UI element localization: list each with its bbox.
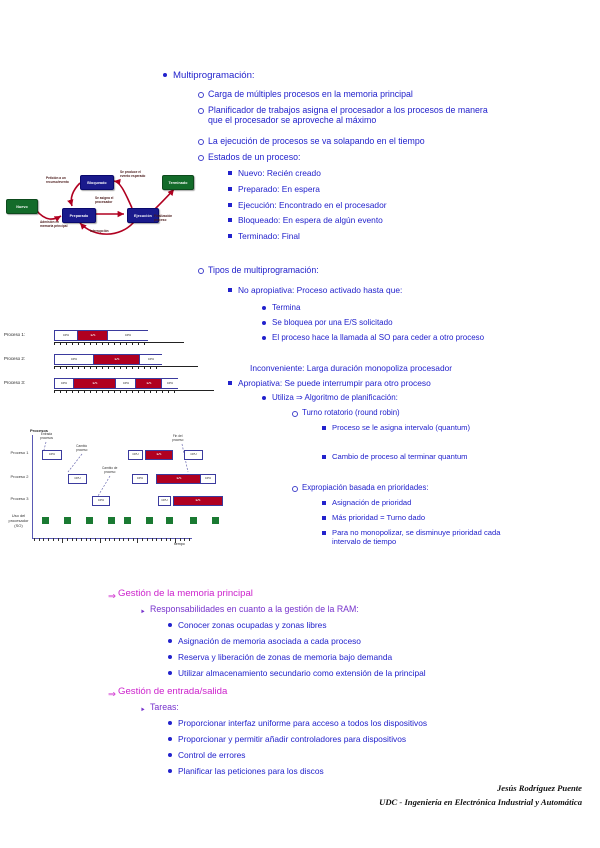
outline-label-no-monopolizar: Para no monopolizar, se disminuye priori…	[332, 528, 502, 546]
bullet-square-icon	[322, 501, 326, 505]
gantt-block-white: CPU	[158, 496, 171, 506]
outline-label-apropiativa: Apropiativa: Se puede interrumpir para o…	[238, 378, 431, 388]
outline-label-ejecucion-solapa: La ejecución de procesos se va solapando…	[208, 136, 425, 146]
bullet-marker	[168, 668, 178, 677]
timeline-tick	[132, 390, 133, 393]
timeline-tick	[54, 390, 55, 393]
gantt-tick	[48, 538, 49, 541]
outline-label-tipos-multiprog: Tipos de multiprogramación:	[208, 265, 319, 275]
timeline-label-proceso-2: Proceso 2:	[4, 356, 25, 361]
gantt-tick	[90, 538, 91, 541]
gantt-cpu-usage-block	[42, 517, 49, 524]
bullet-marker: ⇒	[108, 588, 118, 602]
bullet-marker	[292, 408, 302, 419]
bullet-disc-icon	[262, 321, 266, 325]
timeline-tick	[126, 342, 127, 345]
timeline-tick	[72, 366, 73, 369]
timeline-segment-io: E/S	[73, 379, 116, 388]
footer-author: Jesús Rodríguez Puente	[497, 782, 582, 795]
outline-label-inconveniente: Inconveniente: Larga duración monopoliza…	[250, 363, 452, 373]
gantt-tick	[95, 538, 96, 541]
timeline-tick	[120, 342, 121, 345]
bullet-marker	[322, 498, 332, 507]
gantt-tick	[147, 538, 148, 541]
timeline-tick	[78, 342, 79, 345]
outline-item-carga-multiples: Carga de múltiples procesos en la memori…	[198, 89, 528, 100]
outline-item-estados-proceso: Estados de un proceso:	[198, 152, 528, 163]
bullet-circle-icon	[198, 108, 204, 114]
timeline-track-proceso-1: CPUE/SCPU	[54, 330, 148, 341]
gantt-tick	[109, 538, 110, 541]
outline-label-no-apropiativa: No apropiativa: Proceso activado hasta q…	[238, 285, 402, 295]
gantt-tick	[184, 538, 185, 541]
bullet-circle-icon	[198, 268, 204, 274]
state-box-nuevo: Nuevo	[6, 199, 38, 214]
gantt-block-red: E/S	[156, 474, 202, 484]
bullet-disc-icon	[168, 737, 172, 741]
outline-item-estado-bloqueado: Bloqueado: En espera de algún evento	[228, 215, 548, 225]
outline-label-gestion-memoria: Gestión de la memoria principal	[118, 588, 253, 599]
bullet-disc-icon	[168, 671, 172, 675]
timeline-tick	[54, 366, 55, 369]
bullet-marker	[168, 636, 178, 645]
timeline-tick	[144, 390, 145, 393]
outline-label-estado-nuevo: Nuevo: Recién creado	[238, 168, 321, 178]
outline-label-mas-prioridad: Más prioridad = Turno dado	[332, 513, 425, 522]
timeline-segment-cpu: CPU	[107, 331, 148, 340]
bullet-tick-icon: ‣	[140, 705, 146, 716]
timeline-tick	[60, 390, 61, 393]
outline-label-almacenamiento-sec: Utilizar almacenamiento secundario como …	[178, 668, 426, 678]
timeline-segment-cpu: CPU	[139, 355, 162, 364]
gantt-tick	[137, 538, 138, 543]
gantt-cpu-usage-block	[190, 517, 197, 524]
gantt-tick	[166, 538, 167, 541]
gantt-cpu-usage-block	[64, 517, 71, 524]
gantt-tick	[156, 538, 157, 541]
timeline-tick	[126, 390, 127, 393]
outline-item-gestion-memoria: ⇒Gestión de la memoria principal	[108, 588, 508, 602]
timeline-track-proceso-3: CPUE/SCPUE/SCPU	[54, 378, 178, 389]
bullet-square-icon	[228, 234, 232, 238]
bullet-marker: ‣	[140, 604, 150, 618]
bullet-square-icon	[228, 187, 232, 191]
outline-item-ejecucion-solapa: La ejecución de procesos se va solapando…	[198, 136, 528, 147]
gantt-cpu-usage-block	[86, 517, 93, 524]
gantt-block-white: CPU	[128, 450, 143, 460]
outline-label-se-bloquea-es: Se bloquea por una E/S solicitado	[272, 318, 393, 327]
bullet-circle-icon	[198, 155, 204, 161]
outline-label-control-errores: Control de errores	[178, 750, 246, 760]
bullet-disc-icon	[168, 655, 172, 659]
outline-item-estado-nuevo: Nuevo: Recién creado	[228, 168, 548, 178]
bullet-marker	[322, 513, 332, 522]
outline-label-estado-bloqueado: Bloqueado: En espera de algún evento	[238, 215, 383, 225]
outline-item-almacenamiento-sec: Utilizar almacenamiento secundario como …	[168, 668, 568, 678]
gantt-block-white: CPU	[184, 450, 203, 460]
bullet-square-icon	[228, 288, 232, 292]
timeline-tick	[72, 342, 73, 345]
state-edge-label-peticion-es: Petición a un recurso/evento	[46, 176, 69, 184]
timeline-tick	[156, 390, 157, 393]
outline-item-llamada-so: El proceso hace la llamada al SO para ce…	[262, 333, 512, 342]
bullet-arrow-icon: ⇒	[108, 689, 116, 700]
outline-item-tipos-multiprog: Tipos de multiprogramación:	[198, 265, 528, 276]
outline-label-llamada-so: El proceso hace la llamada al SO para ce…	[272, 333, 484, 342]
bullet-circle-icon	[198, 139, 204, 145]
timeline-tick	[66, 366, 67, 369]
bullet-disc-icon	[262, 396, 266, 400]
timeline-tick	[96, 390, 97, 393]
outline-item-multiprogramacion: Multiprogramación:	[163, 70, 583, 81]
gantt-tick	[53, 538, 54, 541]
figure-process-state-diagram: NuevoPreparadoBloqueadoEjecuciónTerminad…	[2, 166, 192, 266]
outline-item-cambio-proceso: Cambio de proceso al terminar quantum	[322, 452, 502, 461]
gantt-tick	[105, 538, 106, 541]
outline-label-estado-preparado: Preparado: En espera	[238, 184, 320, 194]
outline-item-conocer-zonas: Conocer zonas ocupadas y zonas libres	[168, 620, 548, 630]
bullet-marker	[168, 620, 178, 629]
gantt-block-white: CPU	[68, 474, 87, 484]
bullet-marker	[198, 105, 208, 116]
timeline-segment-cpu: CPU	[55, 355, 93, 364]
outline-label-estados-proceso: Estados de un proceso:	[208, 152, 300, 162]
outline-item-estado-preparado: Preparado: En espera	[228, 184, 548, 194]
timeline-tick	[126, 366, 127, 369]
gantt-tick	[62, 538, 63, 543]
outline-label-planificar-discos: Planificar las peticiones para los disco…	[178, 766, 324, 776]
gantt-cpu-usage-block	[166, 517, 173, 524]
bullet-arrow-icon: ⇒	[108, 591, 116, 602]
outline-item-planificador: Planificador de trabajos asigna el proce…	[198, 105, 498, 125]
timeline-tick	[132, 366, 133, 369]
gantt-note-nota-nuevo-proceso: Entrada procesos	[40, 432, 53, 440]
bullet-square-icon	[322, 531, 326, 535]
timeline-tick	[114, 390, 115, 393]
bullet-marker	[168, 652, 178, 661]
timeline-tick	[138, 342, 139, 345]
bullet-marker	[198, 152, 208, 163]
outline-label-asignacion-memoria: Asignación de memoria asociada a cada pr…	[178, 636, 361, 646]
outline-label-estado-ejecucion: Ejecución: Encontrado en el procesador	[238, 200, 387, 210]
bullet-disc-icon	[163, 73, 167, 77]
figure-scheduling-gantt: ProcesosProceso 1CPUCPUE/SCPUProceso 2CP…	[6, 428, 202, 568]
gantt-tick	[152, 538, 153, 541]
gantt-tick	[86, 538, 87, 541]
timeline-tick	[144, 342, 145, 345]
outline-item-asignacion-prior: Asignación de prioridad	[322, 498, 562, 507]
timeline-tick	[90, 342, 91, 345]
gantt-tick	[67, 538, 68, 541]
timeline-tick	[114, 366, 115, 369]
outline-item-tareas: ‣Tareas:	[140, 702, 520, 716]
gantt-tick	[81, 538, 82, 541]
state-edge-label-fin-proceso: Finalización proceso	[154, 214, 172, 222]
outline-label-controladores: Proporcionar y permitir añadir controlad…	[178, 734, 406, 744]
gantt-tick	[161, 538, 162, 541]
timeline-tick	[150, 390, 151, 393]
timeline-segment-io: E/S	[77, 331, 108, 340]
bullet-marker	[198, 89, 208, 100]
bullet-marker	[228, 215, 238, 224]
bullet-circle-icon	[292, 486, 298, 492]
gantt-y-axis	[32, 435, 33, 538]
bullet-square-icon	[228, 381, 232, 385]
outline-label-expropiacion: Expropiación basada en prioridades:	[302, 483, 429, 492]
bullet-marker	[322, 452, 332, 461]
gantt-tick	[39, 538, 40, 541]
timeline-tick	[150, 366, 151, 369]
timeline-tick	[102, 366, 103, 369]
gantt-tick	[189, 538, 190, 541]
gantt-cpu-usage-block	[108, 517, 115, 524]
timeline-tick	[108, 342, 109, 345]
timeline-tick	[84, 390, 85, 393]
outline-item-controladores: Proporcionar y permitir añadir controlad…	[168, 734, 568, 744]
timeline-tick	[78, 366, 79, 369]
gantt-tick	[76, 538, 77, 541]
timeline-tick	[96, 342, 97, 345]
timeline-track-proceso-2: CPUE/SCPU	[54, 354, 162, 365]
bullet-marker	[228, 231, 238, 240]
outline-label-cambio-proceso: Cambio de proceso al terminar quantum	[332, 452, 468, 461]
gantt-note-nota-fin: Fin del proceso	[172, 434, 183, 442]
footer-affiliation: UDC - Ingeniería en Electrónica Industri…	[379, 796, 582, 809]
slide-canvas: NuevoPreparadoBloqueadoEjecuciónTerminad…	[0, 0, 600, 848]
gantt-cpu-usage-block	[212, 517, 219, 524]
gantt-x-axis	[32, 538, 192, 539]
timeline-tick	[138, 390, 139, 393]
timeline-segment-cpu: CPU	[55, 331, 77, 340]
gantt-tick	[170, 538, 171, 541]
bullet-marker: ⇒	[108, 686, 118, 700]
outline-item-expropiacion: Expropiación basada en prioridades:	[292, 483, 572, 494]
outline-label-reserva-liberacion: Reserva y liberación de zonas de memoria…	[178, 652, 392, 662]
timeline-segment-cpu: CPU	[55, 379, 73, 388]
outline-item-proceso-intervalo: Proceso se le asigna intervalo (quantum)	[322, 423, 502, 432]
gantt-block-red: E/S	[173, 496, 223, 506]
timeline-tick	[162, 390, 163, 393]
gantt-row-label-gantt-proceso-3: Proceso 3	[8, 497, 31, 502]
gantt-tick	[123, 538, 124, 541]
bullet-marker	[168, 766, 178, 775]
figure-process-timelines: Proceso 1:CPUE/SCPUProceso 2:CPUE/SCPUPr…	[4, 328, 196, 406]
gantt-time-axis-label: tiempo	[174, 542, 185, 546]
gantt-tick	[119, 538, 120, 541]
bullet-marker	[262, 333, 272, 342]
gantt-tick	[34, 538, 35, 541]
bullet-marker	[198, 265, 208, 276]
gantt-row-label-gantt-proceso-2: Proceso 2	[8, 475, 31, 480]
timeline-tick	[60, 366, 61, 369]
timeline-segment-cpu: CPU	[161, 379, 178, 388]
bullet-circle-icon	[292, 411, 298, 417]
outline-label-planificador: Planificador de trabajos asigna el proce…	[208, 105, 498, 125]
bullet-marker	[262, 303, 272, 312]
timeline-tick	[84, 366, 85, 369]
timeline-tick	[72, 390, 73, 393]
bullet-disc-icon	[262, 306, 266, 310]
bullet-marker	[292, 483, 302, 494]
outline-label-conocer-zonas: Conocer zonas ocupadas y zonas libres	[178, 620, 327, 630]
outline-item-estado-ejecucion: Ejecución: Encontrado en el procesador	[228, 200, 548, 210]
bullet-circle-icon	[198, 92, 204, 98]
gantt-tick	[58, 538, 59, 541]
outline-label-tareas: Tareas:	[150, 702, 179, 712]
gantt-row-label-gantt-proceso-1: Proceso 1	[8, 451, 31, 456]
bullet-square-icon	[228, 171, 232, 175]
bullet-marker	[228, 200, 238, 209]
timeline-tick	[156, 366, 157, 369]
timeline-tick	[96, 366, 97, 369]
gantt-block-red: E/S	[145, 450, 173, 460]
bullet-disc-icon	[168, 769, 172, 773]
gantt-tick	[180, 538, 181, 541]
outline-label-termina: Termina	[272, 303, 300, 312]
gantt-block-white: CPU	[92, 496, 110, 506]
timeline-tick	[102, 390, 103, 393]
timeline-tick	[102, 342, 103, 345]
timeline-tick	[78, 390, 79, 393]
outline-item-no-monopolizar: Para no monopolizar, se disminuye priori…	[322, 528, 502, 546]
outline-item-control-errores: Control de errores	[168, 750, 568, 760]
gantt-tick	[128, 538, 129, 541]
outline-item-turno-rotatorio: Turno rotatorio (round robin)	[292, 408, 572, 419]
state-box-terminado: Terminado	[162, 175, 194, 190]
bullet-marker	[168, 734, 178, 743]
timeline-tick	[174, 390, 175, 393]
gantt-tick	[133, 538, 134, 541]
timeline-tick	[114, 342, 115, 345]
timeline-tick	[54, 342, 55, 345]
bullet-disc-icon	[168, 623, 172, 627]
timeline-tick	[66, 342, 67, 345]
bullet-disc-icon	[168, 721, 172, 725]
outline-item-reserva-liberacion: Reserva y liberación de zonas de memoria…	[168, 652, 548, 662]
outline-label-interfaz-uniforme: Proporcionar interfaz uniforme para acce…	[178, 718, 427, 728]
timeline-tick	[120, 390, 121, 393]
timeline-tick	[84, 342, 85, 345]
outline-item-apropiativa: Apropiativa: Se puede interrumpir para o…	[228, 378, 558, 388]
gantt-note-nota-cambio-2: Cambio de proceso	[102, 466, 117, 474]
state-edge-label-evento-ocurre: Se produce el evento esperado	[120, 170, 145, 178]
timeline-label-proceso-1: Proceso 1:	[4, 332, 25, 337]
bullet-square-icon	[228, 218, 232, 222]
bullet-square-icon	[322, 455, 326, 459]
gantt-cpu-usage-block	[124, 517, 131, 524]
outline-label-turno-rotatorio: Turno rotatorio (round robin)	[302, 408, 400, 417]
gantt-tick	[72, 538, 73, 541]
outline-item-no-apropiativa: No apropiativa: Proceso activado hasta q…	[228, 285, 548, 295]
gantt-tick	[142, 538, 143, 541]
outline-item-planificar-discos: Planificar las peticiones para los disco…	[168, 766, 568, 776]
gantt-tick	[43, 538, 44, 541]
timeline-tick	[108, 390, 109, 393]
bullet-marker	[228, 285, 238, 294]
bullet-tick-icon: ‣	[140, 607, 146, 618]
bullet-marker	[198, 136, 208, 147]
bullet-square-icon	[322, 426, 326, 430]
gantt-block-white: CPU	[200, 474, 216, 484]
outline-item-estado-terminado: Terminado: Final	[228, 231, 548, 241]
gantt-block-white: CPU	[132, 474, 148, 484]
timeline-tick	[138, 366, 139, 369]
timeline-tick	[168, 390, 169, 393]
outline-label-estado-terminado: Terminado: Final	[238, 231, 300, 241]
outline-item-asignacion-memoria: Asignación de memoria asociada a cada pr…	[168, 636, 548, 646]
timeline-tick	[144, 366, 145, 369]
outline-item-responsabilidades: ‣Responsabilidades en cuanto a la gestió…	[140, 604, 520, 618]
state-box-bloqueado: Bloqueado	[80, 175, 114, 190]
bullet-marker	[262, 318, 272, 327]
bullet-square-icon	[228, 203, 232, 207]
outline-label-proceso-intervalo: Proceso se le asigna intervalo (quantum)	[332, 423, 470, 432]
timeline-segment-io: E/S	[135, 379, 162, 388]
timeline-tick	[132, 342, 133, 345]
outline-label-utiliza-algoritmo: Utiliza ⇒ Algoritmo de planificación:	[272, 393, 398, 402]
gantt-block-white: CPU	[42, 450, 62, 460]
outline-item-inconveniente: Inconveniente: Larga duración monopoliza…	[240, 363, 570, 373]
timeline-tick	[108, 366, 109, 369]
bullet-marker	[228, 378, 238, 387]
outline-label-responsabilidades: Responsabilidades en cuanto a la gestión…	[150, 604, 359, 614]
bullet-marker	[228, 184, 238, 193]
bullet-marker	[228, 168, 238, 177]
gantt-cpu-usage-block	[146, 517, 153, 524]
timeline-label-proceso-3: Proceso 3:	[4, 380, 25, 385]
state-edge-label-despacho: Se asigna el procesador	[95, 196, 113, 204]
bullet-marker	[168, 750, 178, 759]
timeline-tick	[90, 366, 91, 369]
outline-label-multiprogramacion: Multiprogramación:	[173, 70, 255, 81]
outline-item-gestion-es: ⇒Gestión de entrada/salida	[108, 686, 508, 700]
bullet-spacer	[240, 363, 250, 366]
bullet-marker: ‣	[140, 702, 150, 716]
timeline-tick	[60, 342, 61, 345]
outline-item-utiliza-algoritmo: Utiliza ⇒ Algoritmo de planificación:	[262, 393, 562, 402]
gantt-note-nota-cambio-1: Cambio proceso	[76, 444, 87, 452]
timeline-tick	[90, 390, 91, 393]
bullet-disc-icon	[168, 753, 172, 757]
bullet-marker	[163, 70, 173, 79]
outline-item-se-bloquea-es: Se bloquea por una E/S solicitado	[262, 318, 552, 327]
state-edge-label-interrupcion: Interrupción	[90, 229, 109, 233]
gantt-tick	[114, 538, 115, 541]
outline-item-termina: Termina	[262, 303, 552, 312]
outline-item-interfaz-uniforme: Proporcionar interfaz uniforme para acce…	[168, 718, 568, 728]
state-edge-label-admision: Admisión en memoria principal	[40, 220, 67, 228]
bullet-marker	[322, 423, 332, 432]
timeline-tick	[120, 366, 121, 369]
bullet-marker	[262, 393, 272, 402]
bullet-square-icon	[322, 516, 326, 520]
bullet-disc-icon	[168, 639, 172, 643]
outline-item-mas-prioridad: Más prioridad = Turno dado	[322, 513, 562, 522]
timeline-tick	[66, 390, 67, 393]
outline-label-carga-multiples: Carga de múltiples procesos en la memori…	[208, 89, 413, 99]
bullet-marker	[322, 528, 332, 537]
outline-label-gestion-es: Gestión de entrada/salida	[118, 686, 227, 697]
outline-label-asignacion-prior: Asignación de prioridad	[332, 498, 411, 507]
timeline-segment-cpu: CPU	[115, 379, 136, 388]
timeline-axis	[54, 342, 184, 343]
bullet-disc-icon	[262, 336, 266, 340]
bullet-marker	[168, 718, 178, 727]
timeline-segment-io: E/S	[93, 355, 140, 364]
gantt-cpu-row-label: Uso del procesador (SO)	[6, 514, 31, 528]
gantt-tick	[100, 538, 101, 543]
